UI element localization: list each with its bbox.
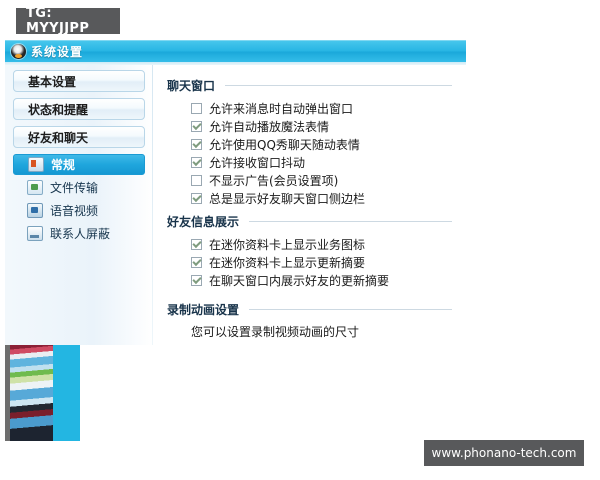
sidebar-item-voice-video-label: 语音视频 [50, 202, 98, 219]
system-settings-dialog: 系统设置 基本设置 状态和提醒 好友和聊天 常规 文件传输 [5, 40, 466, 345]
checkbox-always-sidebar[interactable] [191, 193, 202, 204]
telegram-watermark-badge: TG: MYYJJPP [16, 8, 120, 34]
section-divider [249, 309, 452, 310]
telegram-watermark-text: TG: MYYJJPP [26, 6, 120, 36]
general-icon [28, 157, 44, 172]
sidebar-item-file-transfer[interactable]: 文件传输 [13, 177, 145, 198]
checkbox-minicard-business-icon-label: 在迷你资料卡上显示业务图标 [209, 236, 365, 253]
checkbox-qqshow-emoji-label: 允许使用QQ秀聊天随动表情 [209, 136, 360, 153]
checkbox-row-hide-ads[interactable]: 不显示广告(会员设置项) [191, 171, 452, 189]
checkbox-chatwindow-update-summary-label: 在聊天窗口内展示好友的更新摘要 [209, 272, 389, 289]
sidebar-item-general-label: 常规 [51, 156, 75, 173]
recording-settings-note: 您可以设置录制视频动画的尺寸 [191, 323, 452, 340]
sidebar-button-status-reminders-label: 状态和提醒 [28, 101, 88, 118]
checkbox-row-minicard-business-icon[interactable]: 在迷你资料卡上显示业务图标 [191, 235, 452, 253]
voice-video-icon [27, 203, 43, 218]
sidebar-button-friends-chat-label: 好友和聊天 [28, 129, 88, 146]
section-friend-info-head: 好友信息展示 [167, 213, 452, 230]
sidebar-button-basic-settings[interactable]: 基本设置 [13, 70, 145, 92]
checkbox-hide-ads-label: 不显示广告(会员设置项) [209, 172, 338, 189]
dialog-body: 基本设置 状态和提醒 好友和聊天 常规 文件传输 语音视频 联 [5, 65, 466, 345]
checkbox-row-chatwindow-update-summary[interactable]: 在聊天窗口内展示好友的更新摘要 [191, 271, 452, 289]
sidebar-item-contact-block[interactable]: 联系人屏蔽 [13, 223, 145, 244]
checkbox-minicard-update-summary[interactable] [191, 257, 202, 268]
section-friend-info-title: 好友信息展示 [167, 213, 239, 230]
section-recording-settings-head: 录制动画设置 [167, 301, 452, 318]
checkbox-chatwindow-update-summary[interactable] [191, 275, 202, 286]
checkbox-row-always-sidebar[interactable]: 总是显示好友聊天窗口侧边栏 [191, 189, 452, 207]
checkbox-hide-ads[interactable] [191, 175, 202, 186]
checkbox-row-minicard-update-summary[interactable]: 在迷你资料卡上显示更新摘要 [191, 253, 452, 271]
section-divider [225, 85, 452, 86]
checkbox-row-magic-emoji[interactable]: 允许自动播放魔法表情 [191, 117, 452, 135]
sidebar-item-file-transfer-label: 文件传输 [50, 179, 98, 196]
qq-penguin-icon [11, 44, 26, 59]
sidebar-item-voice-video[interactable]: 语音视频 [13, 200, 145, 221]
checkbox-magic-emoji-label: 允许自动播放魔法表情 [209, 118, 329, 135]
section-recording-settings-title: 录制动画设置 [167, 301, 239, 318]
section-recording-settings: 录制动画设置 您可以设置录制视频动画的尺寸 [167, 301, 452, 340]
checkbox-minicard-business-icon[interactable] [191, 239, 202, 250]
checkbox-qqshow-emoji[interactable] [191, 139, 202, 150]
checkbox-row-qqshow-emoji[interactable]: 允许使用QQ秀聊天随动表情 [191, 135, 452, 153]
dialog-titlebar[interactable]: 系统设置 [5, 40, 466, 62]
sidebar-item-contact-block-label: 联系人屏蔽 [50, 225, 110, 242]
checkbox-auto-popup[interactable] [191, 103, 202, 114]
checkbox-row-window-shake[interactable]: 允许接收窗口抖动 [191, 153, 452, 171]
decorative-photo-thumbnail [5, 345, 80, 441]
site-watermark-badge: www.phonano-tech.com [424, 440, 584, 466]
checkbox-always-sidebar-label: 总是显示好友聊天窗口侧边栏 [209, 190, 365, 207]
sidebar-button-basic-settings-label: 基本设置 [28, 73, 76, 90]
sidebar-button-status-reminders[interactable]: 状态和提醒 [13, 98, 145, 120]
settings-sidebar: 基本设置 状态和提醒 好友和聊天 常规 文件传输 语音视频 联 [5, 65, 153, 345]
section-chat-window: 聊天窗口 允许来消息时自动弹出窗口 允许自动播放魔法表情 允许使用QQ秀聊天随动… [167, 77, 452, 207]
file-transfer-icon [27, 180, 43, 195]
sidebar-item-general[interactable]: 常规 [13, 154, 145, 175]
section-chat-window-head: 聊天窗口 [167, 77, 452, 94]
checkbox-window-shake-label: 允许接收窗口抖动 [209, 154, 305, 171]
checkbox-auto-popup-label: 允许来消息时自动弹出窗口 [209, 100, 353, 117]
photo-cyan-overlay [53, 345, 80, 441]
section-divider [249, 221, 452, 222]
contact-block-icon [27, 226, 43, 241]
dialog-title: 系统设置 [31, 43, 83, 60]
checkbox-row-auto-popup[interactable]: 允许来消息时自动弹出窗口 [191, 99, 452, 117]
checkbox-window-shake[interactable] [191, 157, 202, 168]
site-watermark-text: www.phonano-tech.com [432, 446, 577, 460]
photo-left-edge [5, 345, 10, 441]
sidebar-button-friends-chat[interactable]: 好友和聊天 [13, 126, 145, 148]
section-chat-window-title: 聊天窗口 [167, 77, 215, 94]
settings-content-pane: 聊天窗口 允许来消息时自动弹出窗口 允许自动播放魔法表情 允许使用QQ秀聊天随动… [153, 65, 466, 345]
checkbox-minicard-update-summary-label: 在迷你资料卡上显示更新摘要 [209, 254, 365, 271]
section-friend-info: 好友信息展示 在迷你资料卡上显示业务图标 在迷你资料卡上显示更新摘要 在聊天窗口… [167, 213, 452, 289]
checkbox-magic-emoji[interactable] [191, 121, 202, 132]
